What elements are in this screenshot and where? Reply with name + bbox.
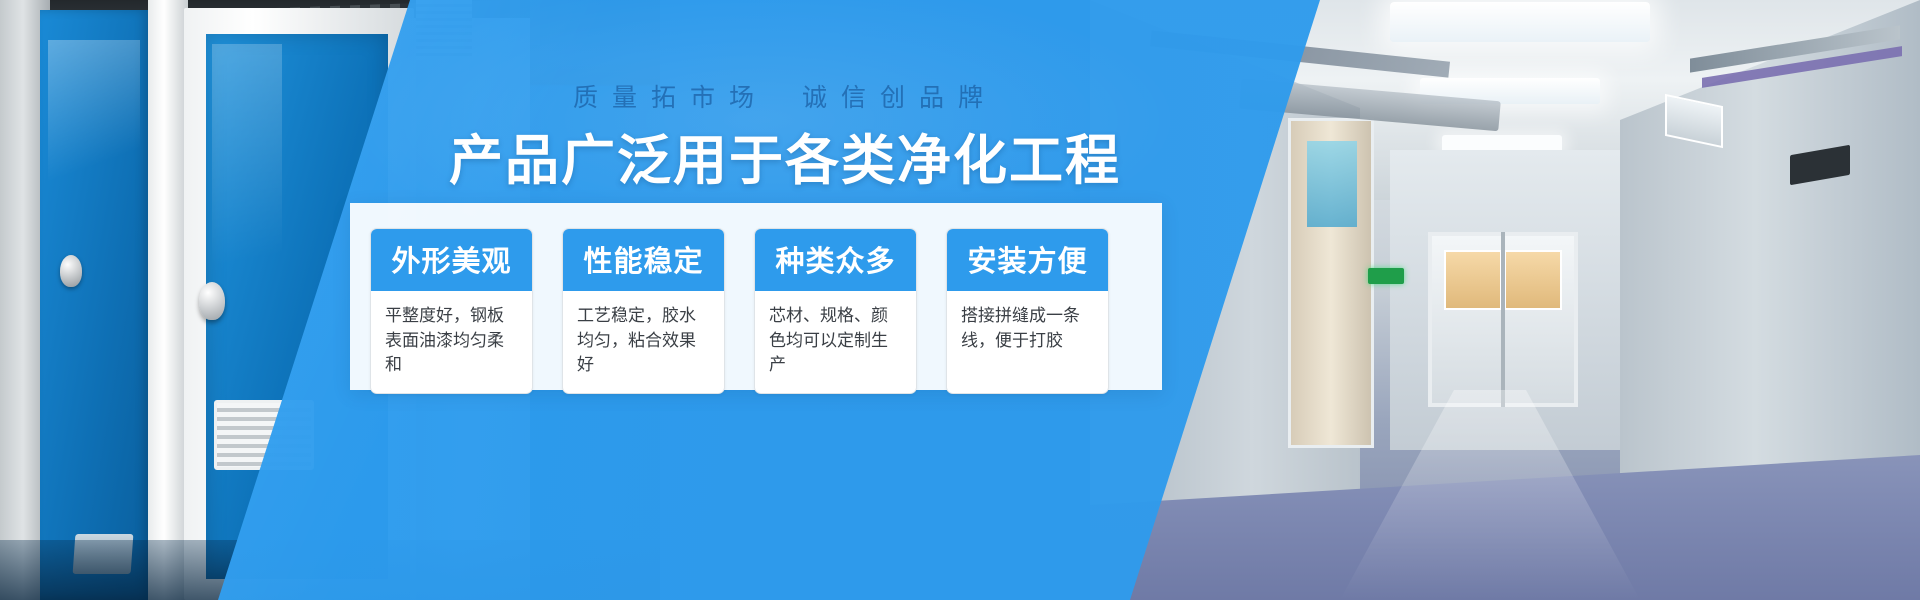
feature-card-title: 性能稳定 xyxy=(563,229,724,291)
feature-card[interactable]: 安装方便 搭接拼缝成一条线，便于打胶 xyxy=(946,228,1109,394)
feature-card-body: 搭接拼缝成一条线，便于打胶 xyxy=(947,291,1108,383)
feature-card-title: 安装方便 xyxy=(947,229,1108,291)
feature-card-body: 芯材、规格、颜色均可以定制生产 xyxy=(755,291,916,393)
promo-banner: 质量拓市场诚信创品牌 产品广泛用于各类净化工程 外形美观 平整度好，钢板表面油漆… xyxy=(0,0,1920,600)
tagline-part-2: 诚信创品牌 xyxy=(802,83,997,112)
feature-card-title: 种类众多 xyxy=(755,229,916,291)
feature-card[interactable]: 性能稳定 工艺稳定，胶水均匀，粘合效果好 xyxy=(562,228,725,394)
feature-card[interactable]: 外形美观 平整度好，钢板表面油漆均匀柔和 xyxy=(370,228,533,394)
feature-card-body: 平整度好，钢板表面油漆均匀柔和 xyxy=(371,291,532,393)
banner-headline: 产品广泛用于各类净化工程 xyxy=(0,116,1570,195)
tagline-part-1: 质量拓市场 xyxy=(573,83,768,112)
feature-card-body: 工艺稳定，胶水均匀，粘合效果好 xyxy=(563,291,724,393)
feature-card-list: 外形美观 平整度好，钢板表面油漆均匀柔和 性能稳定 工艺稳定，胶水均匀，粘合效果… xyxy=(370,228,1109,394)
feature-card[interactable]: 种类众多 芯材、规格、颜色均可以定制生产 xyxy=(754,228,917,394)
feature-card-title: 外形美观 xyxy=(371,229,532,291)
banner-tagline: 质量拓市场诚信创品牌 xyxy=(0,78,1570,114)
